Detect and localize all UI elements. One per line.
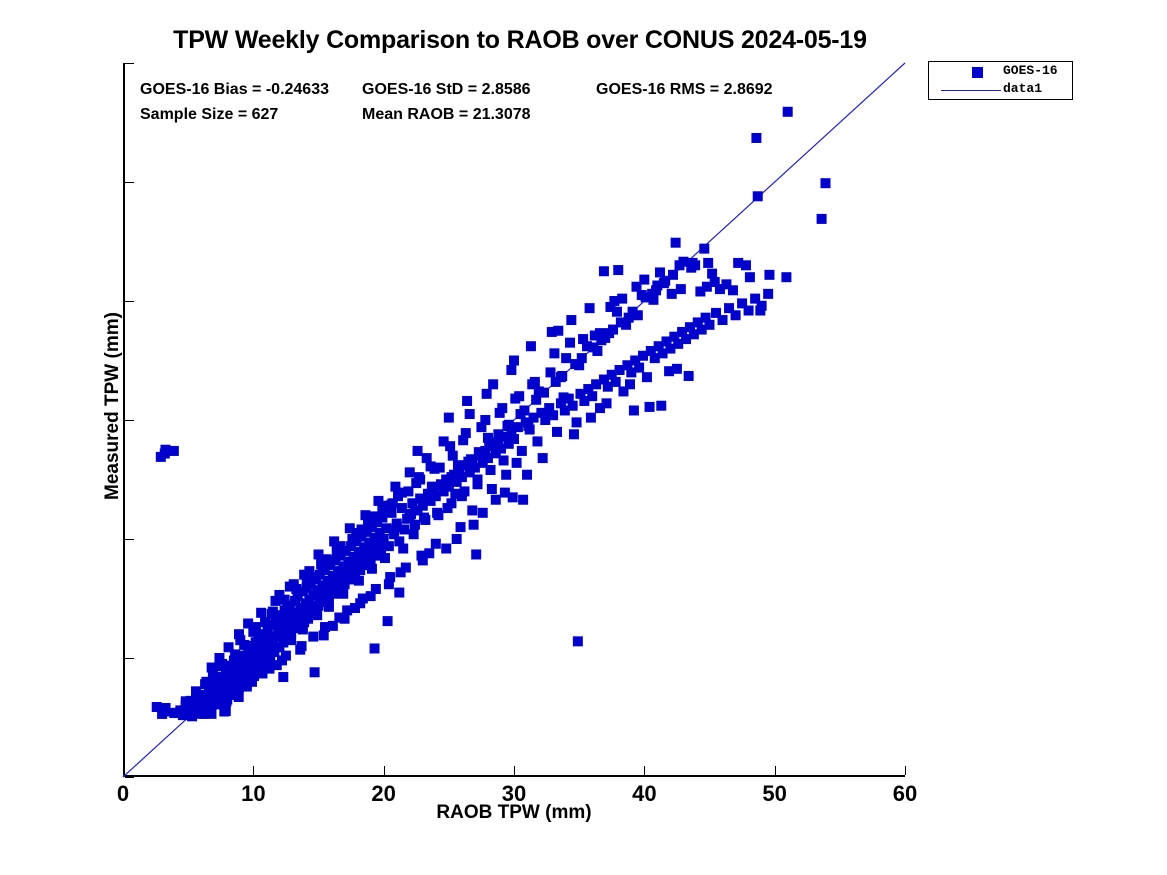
scatter-point [221,706,231,716]
scatter-point [324,602,334,612]
scatter-point [448,451,458,461]
scatter-point [320,622,330,632]
scatter-point [221,697,231,707]
scatter-point [444,413,454,423]
scatter-point [248,627,258,637]
scatter-point [551,377,561,387]
scatter-point [469,520,479,530]
scatter-point [675,260,685,270]
scatter-point [303,603,313,613]
scatter-point [676,284,686,294]
scatter-point [334,613,344,623]
scatter-point [763,289,773,299]
scatter-point [741,260,751,270]
scatter-point [538,453,548,463]
scatter-point [781,272,791,282]
scatter-point [386,499,396,509]
x-tick [253,766,254,775]
scatter-point [499,455,509,465]
scatter-point [728,285,738,295]
scatter-point [484,438,494,448]
scatter-point [612,307,622,317]
scatter-points-group [152,107,831,722]
x-tick [905,766,906,775]
scatter-point [441,544,451,554]
scatter-point [531,395,541,405]
scatter-point [380,553,390,563]
legend-line-icon [941,90,1001,91]
scatter-point [467,505,477,515]
scatter-point [310,667,320,677]
scatter-point [755,306,765,316]
scatter-point [383,616,393,626]
scatter-point [783,107,793,117]
scatter-point [397,488,407,498]
scatter-point [545,367,555,377]
scatter-point [656,401,666,411]
scatter-point [474,447,484,457]
x-tick [514,766,515,775]
scatter-point [471,549,481,559]
scatter-point [367,564,377,574]
legend-label-data1: data1 [1003,81,1042,96]
scatter-point [516,409,526,419]
scatter-point [446,472,456,482]
scatter-point [671,238,681,248]
legend-entry-data1[interactable]: data1 [929,81,1074,100]
scatter-point [526,341,536,351]
scatter-point [410,520,420,530]
y-tick [125,539,134,540]
legend-marker-square-icon [972,67,983,78]
scatter-point [745,272,755,282]
scatter-point [604,328,614,338]
scatter-point [585,303,595,313]
scatter-point [268,607,278,617]
scatter-point [611,377,621,387]
scatter-point [317,563,327,573]
scatter-point [699,244,709,254]
plot-area [123,63,905,777]
scatter-point [482,389,492,399]
scatter-point [764,270,774,280]
scatter-point [686,263,696,273]
scatter-point [264,639,274,649]
scatter-point [263,628,273,638]
scatter-point [488,379,498,389]
scatter-point [753,191,763,201]
scatter-point [210,691,220,701]
scatter-point [616,317,626,327]
scatter-point [465,409,475,419]
scatter-point [343,566,353,576]
scatter-point [227,670,237,680]
y-axis-label: Measured TPW (mm) [102,276,124,536]
scatter-point [298,624,308,634]
scatter-point [552,427,562,437]
scatter-point [645,402,655,412]
scatter-point [287,617,297,627]
y-tick [125,301,134,302]
scatter-point [160,449,170,459]
scatter-point [307,572,317,582]
scatter-point [251,655,261,665]
x-tick [384,766,385,775]
scatter-point [684,371,694,381]
scatter-point [487,484,497,494]
scatter-point [509,434,519,444]
scatter-point [510,394,520,404]
x-axis-label: RAOB TPW (mm) [123,802,905,824]
scatter-point [195,709,205,719]
scatter-point [260,617,270,627]
scatter-point [502,421,512,431]
scatter-point [570,359,580,369]
scatter-point [415,475,425,485]
scatter-point [419,513,429,523]
scatter-point [432,508,442,518]
scatter-point [744,306,754,316]
scatter-point [405,467,415,477]
scatter-point [495,408,505,418]
scatter-point [501,470,511,480]
scatter-point [366,591,376,601]
scatter-point [517,446,527,456]
y-tick [125,777,134,778]
scatter-point [522,470,532,480]
scatter-point [478,508,488,518]
scatter-point [212,682,222,692]
scatter-point [817,214,827,224]
x-tick [123,766,124,775]
scatter-point [443,503,453,513]
scatter-point [276,628,286,638]
scatter-point [231,659,241,669]
scatter-point [406,509,416,519]
scatter-point [338,589,348,599]
scatter-point [731,310,741,320]
scatter-point [357,524,367,534]
scatter-point [476,422,486,432]
scatter-point [509,356,519,366]
scatter-point [628,307,638,317]
scatter-point [264,664,274,674]
scatter-point [751,133,761,143]
scatter-point [452,534,462,544]
scatter-point [549,348,559,358]
scatter-point [234,692,244,702]
scatter-point [500,488,510,498]
scatter-point [568,401,578,411]
scatter-point [625,379,635,389]
x-tick [644,766,645,775]
scatter-point [278,672,288,682]
scatter-point [396,567,406,577]
scatter-point [389,524,399,534]
scatter-point [423,494,433,504]
scatter-point [439,436,449,446]
scatter-point [384,541,394,551]
scatter-point [613,265,623,275]
scatter-point [667,289,677,299]
scatter-point [458,435,468,445]
y-tick [125,182,134,183]
scatter-point [312,610,322,620]
scatter-point [473,479,483,489]
scatter-point [647,289,657,299]
stat-rms: GOES-16 RMS = 2.8692 [596,81,773,99]
stat-mean-raob: Mean RAOB = 21.3078 [362,106,531,124]
scatter-point [368,511,378,521]
scatter-point [523,421,533,431]
scatter-point [462,396,472,406]
scatter-point [409,529,419,539]
scatter-point [642,372,652,382]
scatter-point [426,461,436,471]
scatter-point [518,495,528,505]
scatter-point [589,342,599,352]
scatter-point [349,535,359,545]
scatter-point [372,540,382,550]
scatter-point [384,579,394,589]
y-tick [125,658,134,659]
scatter-point [418,555,428,565]
y-tick [125,63,134,64]
scatter-point [281,651,291,661]
page-title: TPW Weekly Comparison to RAOB over CONUS… [0,26,1040,55]
scatter-point [297,641,307,651]
scatter-point [703,258,713,268]
scatter-point [457,491,467,501]
scatter-point [547,327,557,337]
scatter-point [453,460,463,470]
scatter-point [572,417,582,427]
scatter-point [718,315,728,325]
stat-sample-size: Sample Size = 627 [140,106,278,124]
scatter-point [573,636,583,646]
scatter-point [532,436,542,446]
scatter-point [437,480,447,490]
scatter-point [256,608,266,618]
scatter-point [602,398,612,408]
scatter-point [634,363,644,373]
scatter-point [394,588,404,598]
scatter-point [639,275,649,285]
scatter-point [354,576,364,586]
scatter-point [821,178,831,188]
scatter-point [506,365,516,375]
scatter-point [308,632,318,642]
figure-canvas: TPW Weekly Comparison to RAOB over CONUS… [0,0,1167,875]
scatter-point [152,702,162,712]
scatter-point [456,522,466,532]
scatter-point [512,458,522,468]
legend-entry-goes16[interactable]: GOES-16 [929,63,1074,82]
scatter-point [205,703,215,713]
scatter-point [629,405,639,415]
scatter-point [668,270,678,280]
scatter-point [333,548,343,558]
scatter-point [672,364,682,374]
scatter-point [559,392,569,402]
scatter-point [586,413,596,423]
scatter-point [370,643,380,653]
scatter-point [542,409,552,419]
scatter-point [330,578,340,588]
scatter-point [587,391,597,401]
scatter-point [291,584,301,594]
scatter-point [243,673,253,683]
scatter-point [569,429,579,439]
scatter-point [566,315,576,325]
scatter-point [659,278,669,288]
scatter-point [431,539,441,549]
scatter-point [599,266,609,276]
scatter-point [280,595,290,605]
y-tick [125,420,134,421]
legend-label-goes16: GOES-16 [1003,63,1058,78]
legend[interactable]: GOES-16 data1 [928,61,1073,100]
scatter-point [565,338,575,348]
scatter-point [413,446,423,456]
scatter-point [315,592,325,602]
scatter-point [286,635,296,645]
scatter-plot-canvas [123,63,905,777]
scatter-point [169,708,179,718]
stat-bias: GOES-16 Bias = -0.24633 [140,81,329,99]
scatter-point [705,320,715,330]
scatter-point [161,703,171,713]
scatter-point [609,296,619,306]
scatter-point [561,353,571,363]
scatter-point [251,637,261,647]
scatter-point [362,549,372,559]
scatter-point [702,282,712,292]
x-tick [775,766,776,775]
scatter-point [486,465,496,475]
scatter-point [491,495,501,505]
scatter-point [350,603,360,613]
stat-std: GOES-16 StD = 2.8586 [362,81,531,99]
scatter-point [655,267,665,277]
scatter-point [398,544,408,554]
scatter-point [493,429,503,439]
